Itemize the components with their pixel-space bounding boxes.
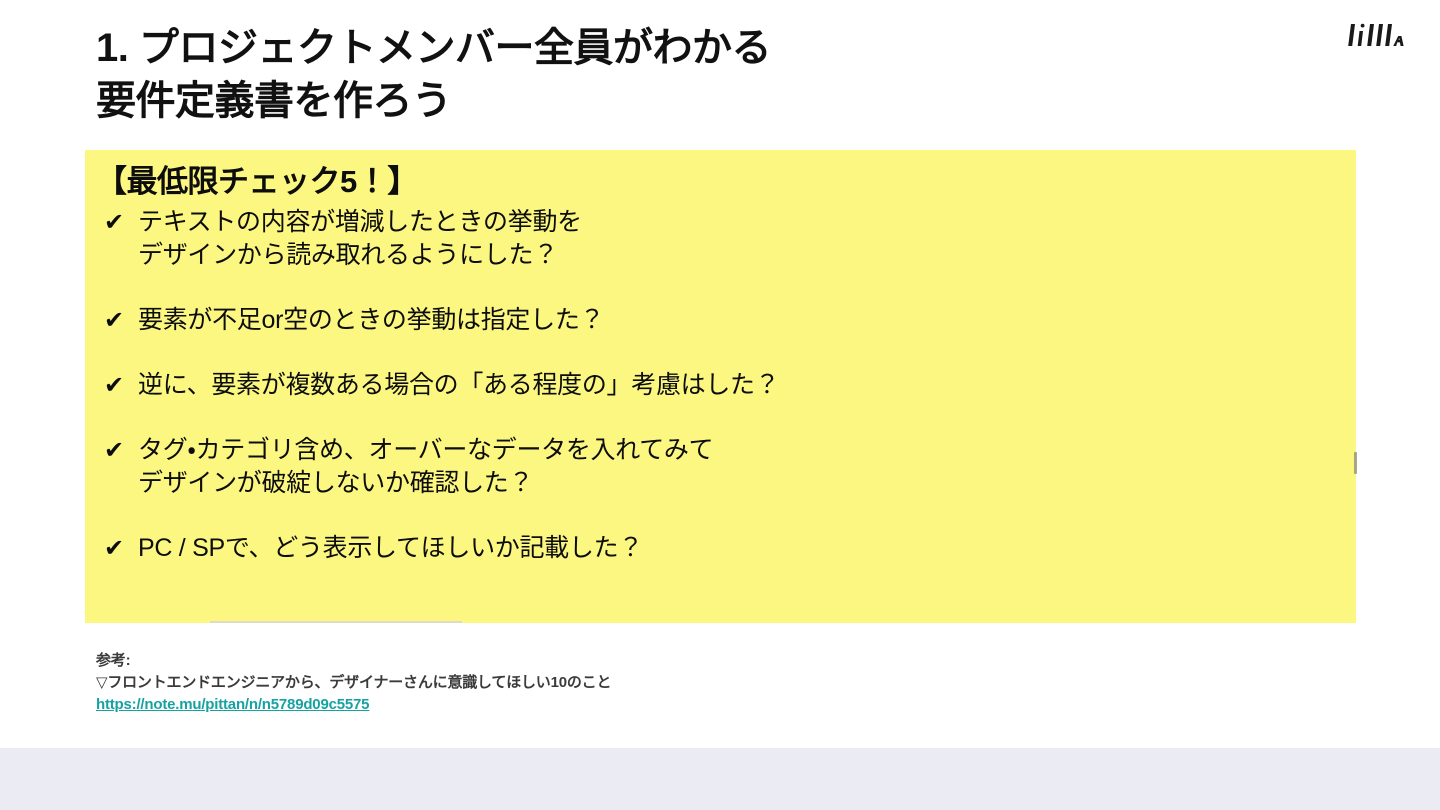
- panel-edge-artifact: [1354, 452, 1357, 474]
- checklist-heading: 【最低限チェック5！】: [96, 163, 418, 200]
- reference-label: 参考:: [96, 650, 856, 672]
- check-icon: ✔: [104, 532, 138, 565]
- reference-block: 参考: ▽フロントエンドエンジニアから、デザイナーさんに意識してほしい10のこと…: [96, 650, 856, 716]
- reference-link[interactable]: https://note.mu/pittan/n/n5789d09c5575: [96, 694, 369, 716]
- reference-article-title: ▽フロントエンドエンジニアから、デザイナーさんに意識してほしい10のこと: [96, 672, 856, 694]
- brand-logo-icon: [1346, 18, 1410, 52]
- slide-canvas: 1. プロジェクトメンバー全員がわかる 要件定義書を作ろう 【最低限チェック5！…: [0, 0, 1440, 810]
- list-item-label: テキストの内容が増減したときの挙動を デザインから読み取れるようにした？: [138, 206, 582, 272]
- list-item: ✔ テキストの内容が増減したときの挙動を デザインから読み取れるようにした？: [104, 206, 1344, 272]
- list-item-label: 要素が不足or空のときの挙動は指定した？: [138, 304, 604, 337]
- panel-underline-artifact: [210, 621, 462, 623]
- list-item-label: 逆に、要素が複数ある場合の「ある程度の」考慮はした？: [138, 369, 779, 402]
- list-item-label: タグ・カテゴリ含め、オーバーなデータを入れてみて デザインが破綻しないか確認した…: [138, 434, 713, 500]
- check-icon: ✔: [104, 434, 138, 467]
- list-item: ✔ PC / SPで、どう表示してほしいか記載した？: [104, 532, 1344, 565]
- list-item: ✔ タグ・カテゴリ含め、オーバーなデータを入れてみて デザインが破綻しないか確認…: [104, 434, 1344, 500]
- check-icon: ✔: [104, 304, 138, 337]
- list-item: ✔ 逆に、要素が複数ある場合の「ある程度の」考慮はした？: [104, 369, 1344, 402]
- checklist: ✔ テキストの内容が増減したときの挙動を デザインから読み取れるようにした？ ✔…: [104, 206, 1344, 565]
- check-icon: ✔: [104, 369, 138, 402]
- list-item: ✔ 要素が不足or空のときの挙動は指定した？: [104, 304, 1344, 337]
- page-title: 1. プロジェクトメンバー全員がわかる 要件定義書を作ろう: [96, 22, 1096, 128]
- bottom-band: [0, 748, 1440, 810]
- list-item-label: PC / SPで、どう表示してほしいか記載した？: [138, 532, 643, 565]
- check-icon: ✔: [104, 206, 138, 239]
